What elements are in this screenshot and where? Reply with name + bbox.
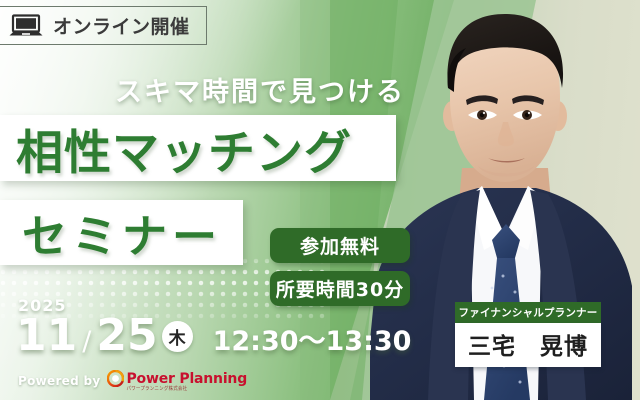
title-line-1: 相性マッチング bbox=[16, 114, 352, 183]
powered-by-label: Powered by bbox=[18, 374, 101, 388]
seminar-banner: オンライン開催 スキマ時間で見つける 相性マッチング セミナー 参加無料 所要時… bbox=[0, 0, 640, 400]
title-band-secondary: セミナー bbox=[0, 200, 243, 265]
speaker-role: ファイナンシャルプランナー bbox=[455, 302, 601, 323]
event-date-line: 11 / 25 木 12:30〜13:30 bbox=[16, 314, 411, 358]
event-weekday-badge: 木 bbox=[162, 321, 193, 352]
title-band-primary: 相性マッチング bbox=[0, 115, 396, 181]
date-separator: / bbox=[82, 328, 91, 355]
online-badge-label: オンライン開催 bbox=[53, 12, 190, 39]
pill-duration-label: 所要時間30分 bbox=[276, 275, 404, 302]
power-planning-sub: パワープランニング株式会社 bbox=[127, 388, 188, 393]
power-planning-wordmark: Power Planning bbox=[127, 372, 248, 386]
speaker-name: 三宅 晃博 bbox=[455, 323, 601, 367]
title-line-2: セミナー bbox=[22, 200, 222, 265]
event-time-range: 12:30〜13:30 bbox=[213, 328, 412, 355]
pill-duration: 所要時間30分 bbox=[270, 271, 410, 306]
speaker-nameplate: ファイナンシャルプランナー 三宅 晃博 bbox=[455, 302, 601, 367]
event-day: 25 bbox=[96, 314, 157, 358]
powered-by: Powered by bbox=[18, 370, 247, 393]
online-badge: オンライン開催 bbox=[0, 6, 207, 45]
swoosh-circle-icon bbox=[107, 370, 124, 387]
power-planning-logo: Power Planning パワープランニング株式会社 bbox=[107, 370, 248, 393]
laptop-icon bbox=[9, 14, 43, 38]
kicker-text: スキマ時間で見つける bbox=[115, 70, 405, 109]
pill-free-admission: 参加無料 bbox=[270, 228, 410, 263]
event-month: 11 bbox=[16, 314, 77, 358]
pill-free-admission-label: 参加無料 bbox=[300, 232, 380, 259]
